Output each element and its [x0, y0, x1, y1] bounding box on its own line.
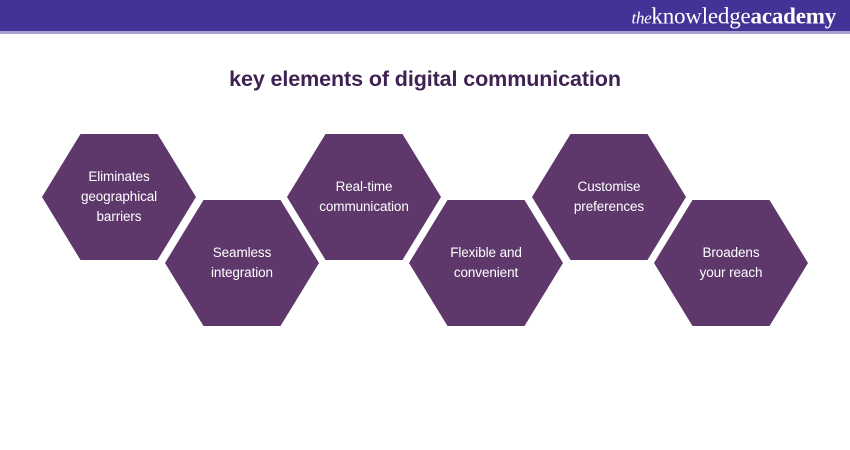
- hexagon-label-4: Flexible and convenient: [450, 243, 522, 284]
- hexagon-item-4: Flexible and convenient: [409, 200, 563, 326]
- hexagon-label-5: Customise preferences: [574, 177, 644, 218]
- hexagon-diagram: Eliminates geographical barriers Seamles…: [0, 0, 850, 450]
- hexagon-label-3: Real-time communication: [319, 177, 409, 218]
- hexagon-label-2: Seamless integration: [211, 243, 273, 284]
- hexagon-item-3: Real-time communication: [287, 134, 441, 260]
- hexagon-item-2: Seamless integration: [165, 200, 319, 326]
- hexagon-item-6: Broadens your reach: [654, 200, 808, 326]
- hexagon-item-1: Eliminates geographical barriers: [42, 134, 196, 260]
- hexagon-label-6: Broadens your reach: [700, 243, 763, 284]
- hexagon-item-5: Customise preferences: [532, 134, 686, 260]
- hexagon-label-1: Eliminates geographical barriers: [81, 167, 157, 228]
